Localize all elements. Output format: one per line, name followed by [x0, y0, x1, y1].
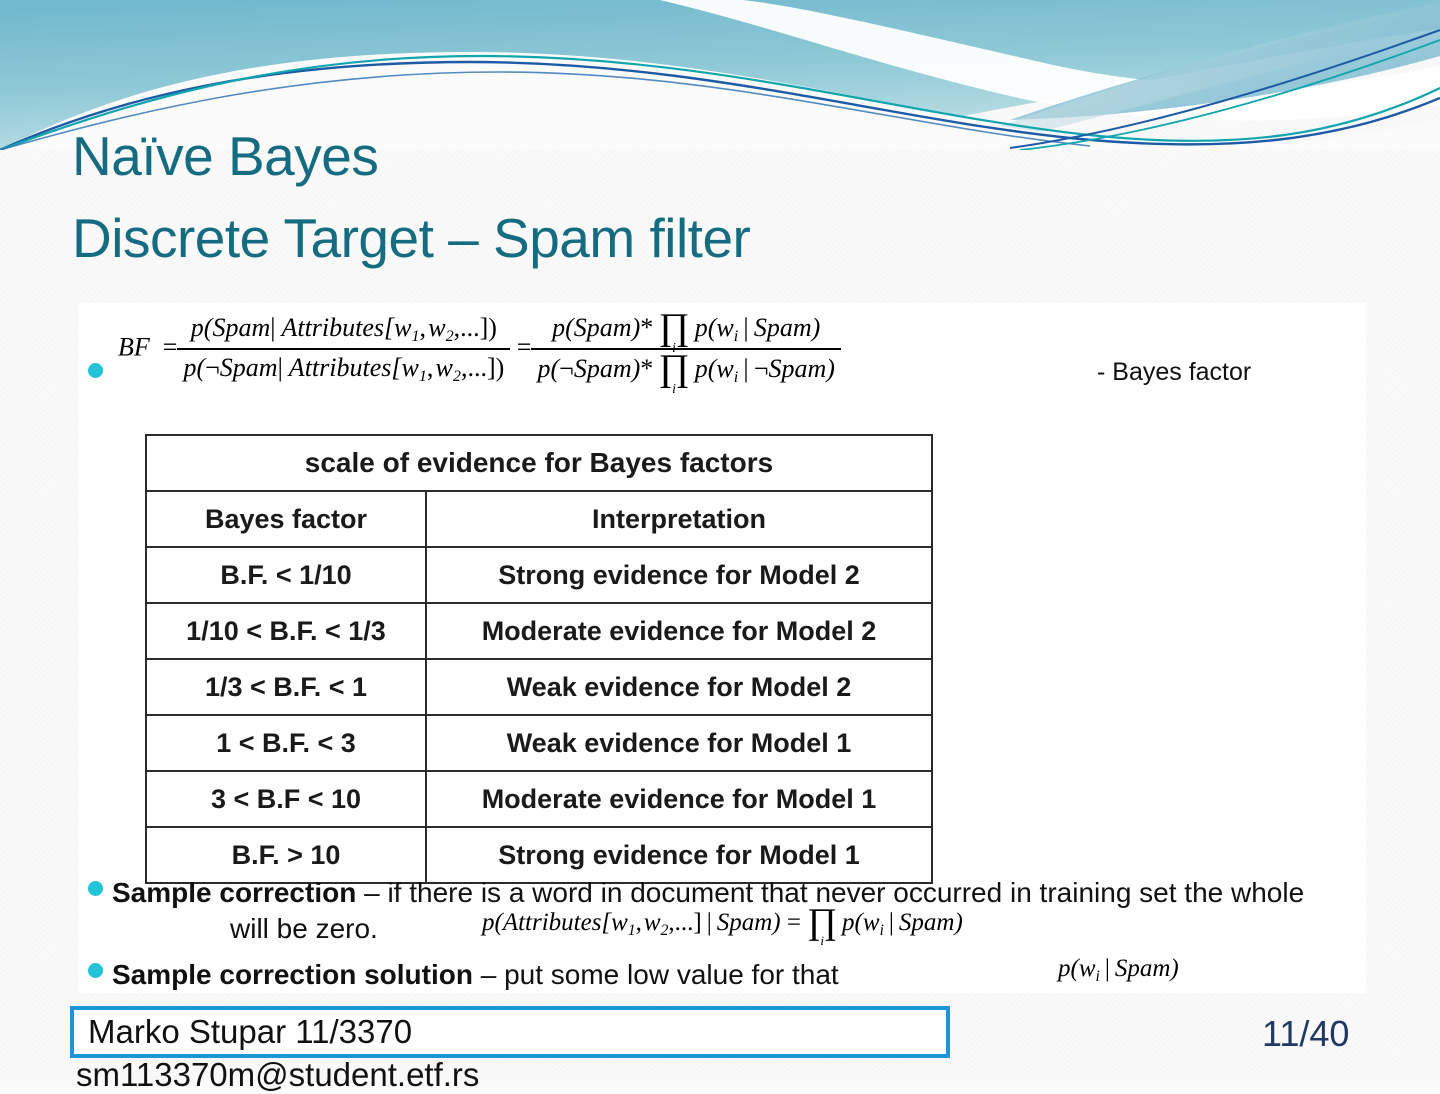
bullet-dot-icon: [88, 881, 103, 896]
word-probability-formula: p(wi | Spam): [1058, 955, 1179, 986]
table-row: B.F. < 1/10 Strong evidence for Model 2: [146, 547, 932, 603]
formula-fraction-2: p(Spam)* ∏i p(wi | Spam) p(¬Spam)* ∏i p(…: [531, 312, 840, 387]
bullet-sample-correction-label: Sample correction: [112, 877, 356, 908]
formula-fraction-2-numerator: p(Spam)* ∏i p(wi | Spam): [531, 312, 840, 350]
cell-bayes-factor: 1/3 < B.F. < 1: [146, 659, 426, 715]
table-row: 1/10 < B.F. < 1/3 Moderate evidence for …: [146, 603, 932, 659]
bullet-sample-correction-tail: will be zero.: [230, 913, 378, 944]
column-header-interpretation: Interpretation: [426, 491, 932, 547]
page-number: 11/40: [1262, 1013, 1349, 1055]
attributes-product-formula: p(Attributes[w1, w2,...] | Spam) = ∏i p(…: [482, 907, 963, 940]
cell-bayes-factor: B.F. < 1/10: [146, 547, 426, 603]
title-line-2: Discrete Target – Spam filter: [72, 210, 1372, 266]
formula-fraction-1: p(Spam| Attributes[w1, w2,...]) p(¬Spam|…: [177, 313, 510, 386]
bullet-solution-text: – put some low value for that: [473, 959, 839, 990]
formula-fraction-2-denominator: p(¬Spam)* ∏i p(wi | ¬Spam): [531, 350, 840, 387]
bullet-dot-icon: [88, 963, 103, 978]
column-header-bayes-factor: Bayes factor: [146, 491, 426, 547]
formula-lhs: BF: [118, 333, 150, 362]
slide-canvas: Naïve Bayes Discrete Target – Spam filte…: [0, 0, 1440, 1080]
bayes-factor-annotation: - Bayes factor: [1097, 358, 1251, 387]
cell-interpretation: Moderate evidence for Model 1: [426, 771, 932, 827]
cell-interpretation: Weak evidence for Model 1: [426, 715, 932, 771]
table-header-row: Bayes factor Interpretation: [146, 491, 932, 547]
bayes-factor-formula: BF = p(Spam| Attributes[w1, w2,...]) p(¬…: [118, 312, 841, 387]
table-title-row: scale of evidence for Bayes factors: [146, 435, 932, 491]
table-title: scale of evidence for Bayes factors: [146, 435, 932, 491]
formula-fraction-1-numerator: p(Spam| Attributes[w1, w2,...]): [177, 313, 510, 350]
footer-author-email: sm113370m@student.etf.rs: [76, 1056, 479, 1094]
table-row: 3 < B.F < 10 Moderate evidence for Model…: [146, 771, 932, 827]
cell-bayes-factor: 1 < B.F. < 3: [146, 715, 426, 771]
product-operator-icon: ∏i: [658, 353, 689, 387]
cell-interpretation: Strong evidence for Model 2: [426, 547, 932, 603]
cell-bayes-factor: 3 < B.F < 10: [146, 771, 426, 827]
cell-interpretation: Weak evidence for Model 2: [426, 659, 932, 715]
footer-author-name: Marko Stupar 11/3370: [88, 1013, 412, 1051]
table-row: 1 < B.F. < 3 Weak evidence for Model 1: [146, 715, 932, 771]
page-title: Naïve Bayes Discrete Target – Spam filte…: [72, 128, 1372, 266]
formula-fraction-1-denominator: p(¬Spam| Attributes[w1, w2,...]): [177, 350, 510, 386]
formula-equals-2: =: [510, 333, 531, 362]
cell-bayes-factor: 1/10 < B.F. < 1/3: [146, 603, 426, 659]
bullet-dot-icon: [88, 363, 103, 378]
product-operator-icon: ∏i: [658, 312, 689, 346]
cell-interpretation: Moderate evidence for Model 2: [426, 603, 932, 659]
evidence-scale-table: scale of evidence for Bayes factors Baye…: [145, 434, 933, 884]
formula-equals-1: =: [156, 333, 177, 362]
bullet-solution-label: Sample correction solution: [112, 959, 473, 990]
product-operator-icon: ∏i: [807, 907, 837, 940]
table-row: 1/3 < B.F. < 1 Weak evidence for Model 2: [146, 659, 932, 715]
title-line-1: Naïve Bayes: [72, 128, 1372, 184]
bullet-sample-correction-solution: Sample correction solution – put some lo…: [112, 957, 1012, 993]
